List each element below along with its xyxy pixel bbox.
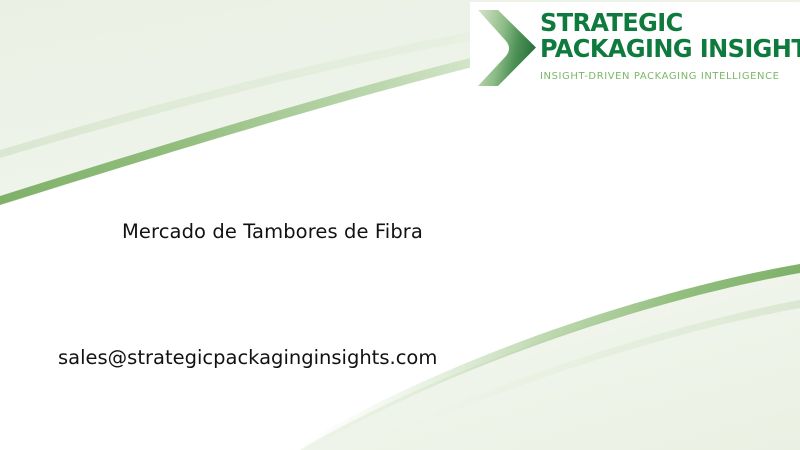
logo-line-2: PACKAGING INSIGHTS xyxy=(540,36,776,62)
slide-title: Mercado de Tambores de Fibra xyxy=(122,220,423,243)
logo-wordmark: STRATEGIC PACKAGING INSIGHTS INSIGHT-DRI… xyxy=(540,10,786,82)
logo-tagline: INSIGHT-DRIVEN PACKAGING INTELLIGENCE xyxy=(540,71,782,82)
brand-logo: STRATEGIC PACKAGING INSIGHTS INSIGHT-DRI… xyxy=(470,2,790,94)
chevron-arrow-mark xyxy=(476,8,538,88)
presentation-slide: Mercado de Tambores de Fibra sales@strat… xyxy=(0,0,800,450)
logo-line-1: STRATEGIC xyxy=(540,10,776,36)
contact-email: sales@strategicpackaginginsights.com xyxy=(58,346,437,369)
